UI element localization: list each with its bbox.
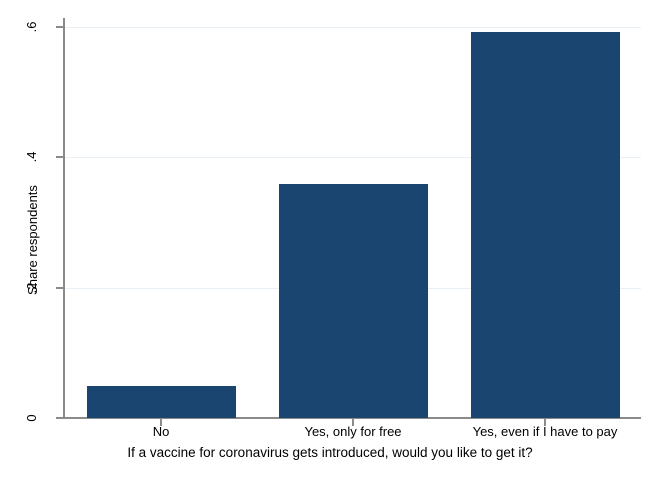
y-tick-label: .4 [25, 137, 39, 177]
gridline [65, 27, 641, 28]
y-axis-line [63, 18, 65, 419]
y-tick-label: .6 [25, 7, 39, 47]
bar [279, 184, 428, 418]
bar-chart: Share respondents 0.2.4.6 NoYes, only fo… [0, 0, 660, 480]
plot-area [0, 0, 660, 480]
bar [471, 32, 620, 418]
x-tick-label: Yes, only for free [304, 424, 401, 440]
y-tick-label: 0 [25, 398, 39, 438]
y-tick-label: .2 [25, 268, 39, 308]
gridline [65, 288, 641, 289]
bar [87, 386, 236, 418]
gridline [65, 157, 641, 158]
x-tick-label: Yes, even if I have to pay [473, 424, 618, 440]
x-axis-title: If a vaccine for coronavirus gets introd… [0, 445, 660, 460]
x-tick-label: No [153, 424, 170, 440]
